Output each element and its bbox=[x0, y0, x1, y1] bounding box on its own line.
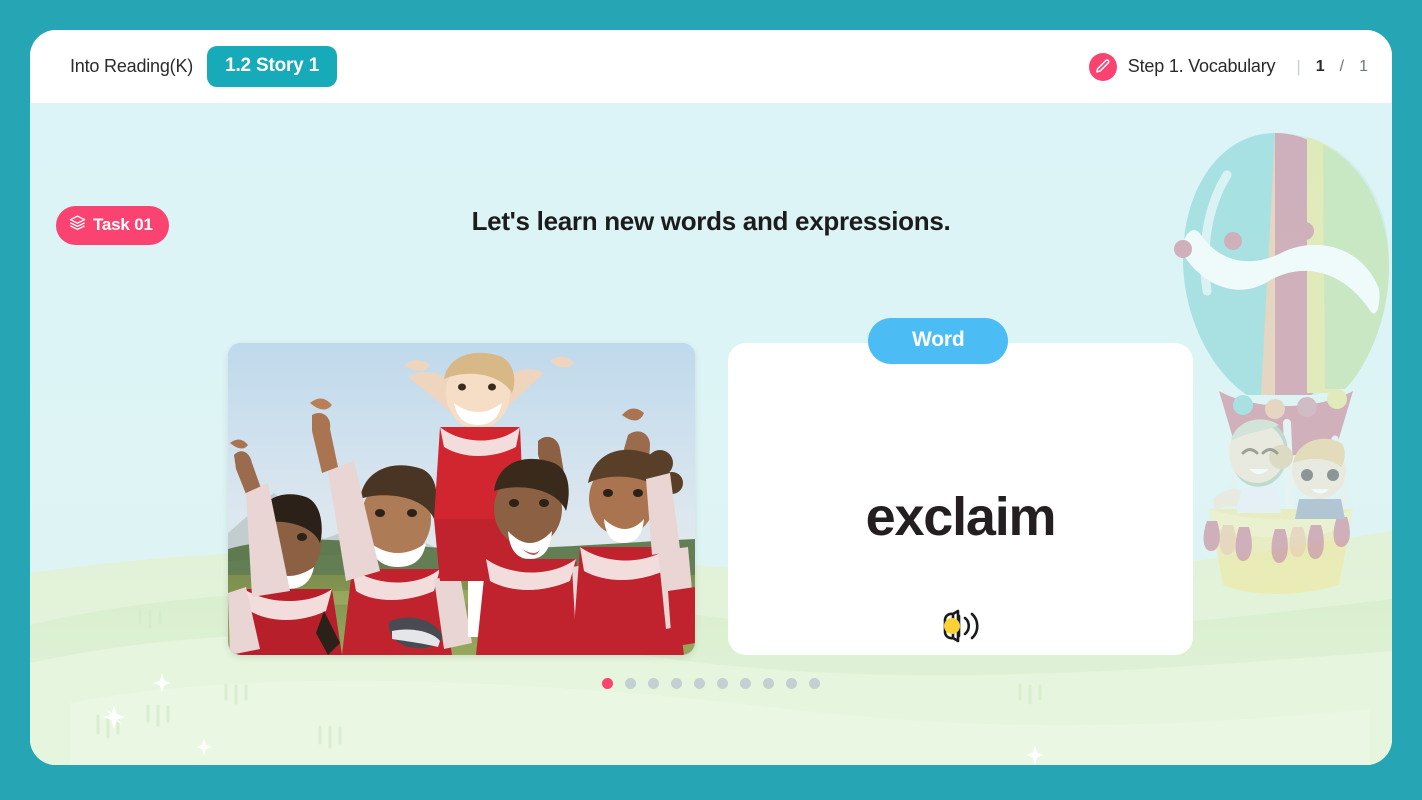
word-card: exclaim bbox=[728, 343, 1193, 655]
pencil-icon bbox=[1089, 53, 1117, 81]
word-badge[interactable]: Word bbox=[868, 318, 1008, 364]
pagination-dot-3[interactable] bbox=[648, 678, 659, 689]
instruction-title: Let's learn new words and expressions. bbox=[30, 206, 1392, 237]
task-label: Task 01 bbox=[93, 215, 153, 235]
speaker-icon[interactable] bbox=[937, 605, 985, 647]
pagination-dot-2[interactable] bbox=[625, 678, 636, 689]
step-label: Step 1. Vocabulary bbox=[1128, 56, 1276, 77]
header-right-group: Step 1. Vocabulary | 1 / 1 bbox=[1089, 53, 1368, 81]
page-total: 1 bbox=[1359, 58, 1368, 76]
pagination-dot-1[interactable] bbox=[602, 678, 613, 689]
pagination-dot-10[interactable] bbox=[809, 678, 820, 689]
pagination-dot-9[interactable] bbox=[786, 678, 797, 689]
lesson-stage: Task 01 Let's learn new words and expres… bbox=[30, 103, 1392, 765]
header-separator: | bbox=[1296, 57, 1300, 77]
pagination-dot-8[interactable] bbox=[763, 678, 774, 689]
page-slash: / bbox=[1340, 58, 1344, 76]
app-frame: Into Reading(K) 1.2 Story 1 Step 1. Voca… bbox=[30, 30, 1392, 765]
pagination-dots bbox=[30, 678, 1392, 689]
layers-icon bbox=[69, 214, 86, 236]
pagination-dot-4[interactable] bbox=[671, 678, 682, 689]
page-current: 1 bbox=[1316, 58, 1325, 76]
task-badge[interactable]: Task 01 bbox=[56, 206, 169, 245]
pagination-dot-6[interactable] bbox=[717, 678, 728, 689]
word-text: exclaim bbox=[728, 486, 1193, 548]
story-chip[interactable]: 1.2 Story 1 bbox=[207, 46, 337, 87]
course-name: Into Reading(K) bbox=[70, 56, 193, 77]
vocabulary-photo bbox=[228, 343, 695, 655]
header-bar: Into Reading(K) 1.2 Story 1 Step 1. Voca… bbox=[30, 30, 1392, 103]
pagination-dot-5[interactable] bbox=[694, 678, 705, 689]
pagination-dot-7[interactable] bbox=[740, 678, 751, 689]
